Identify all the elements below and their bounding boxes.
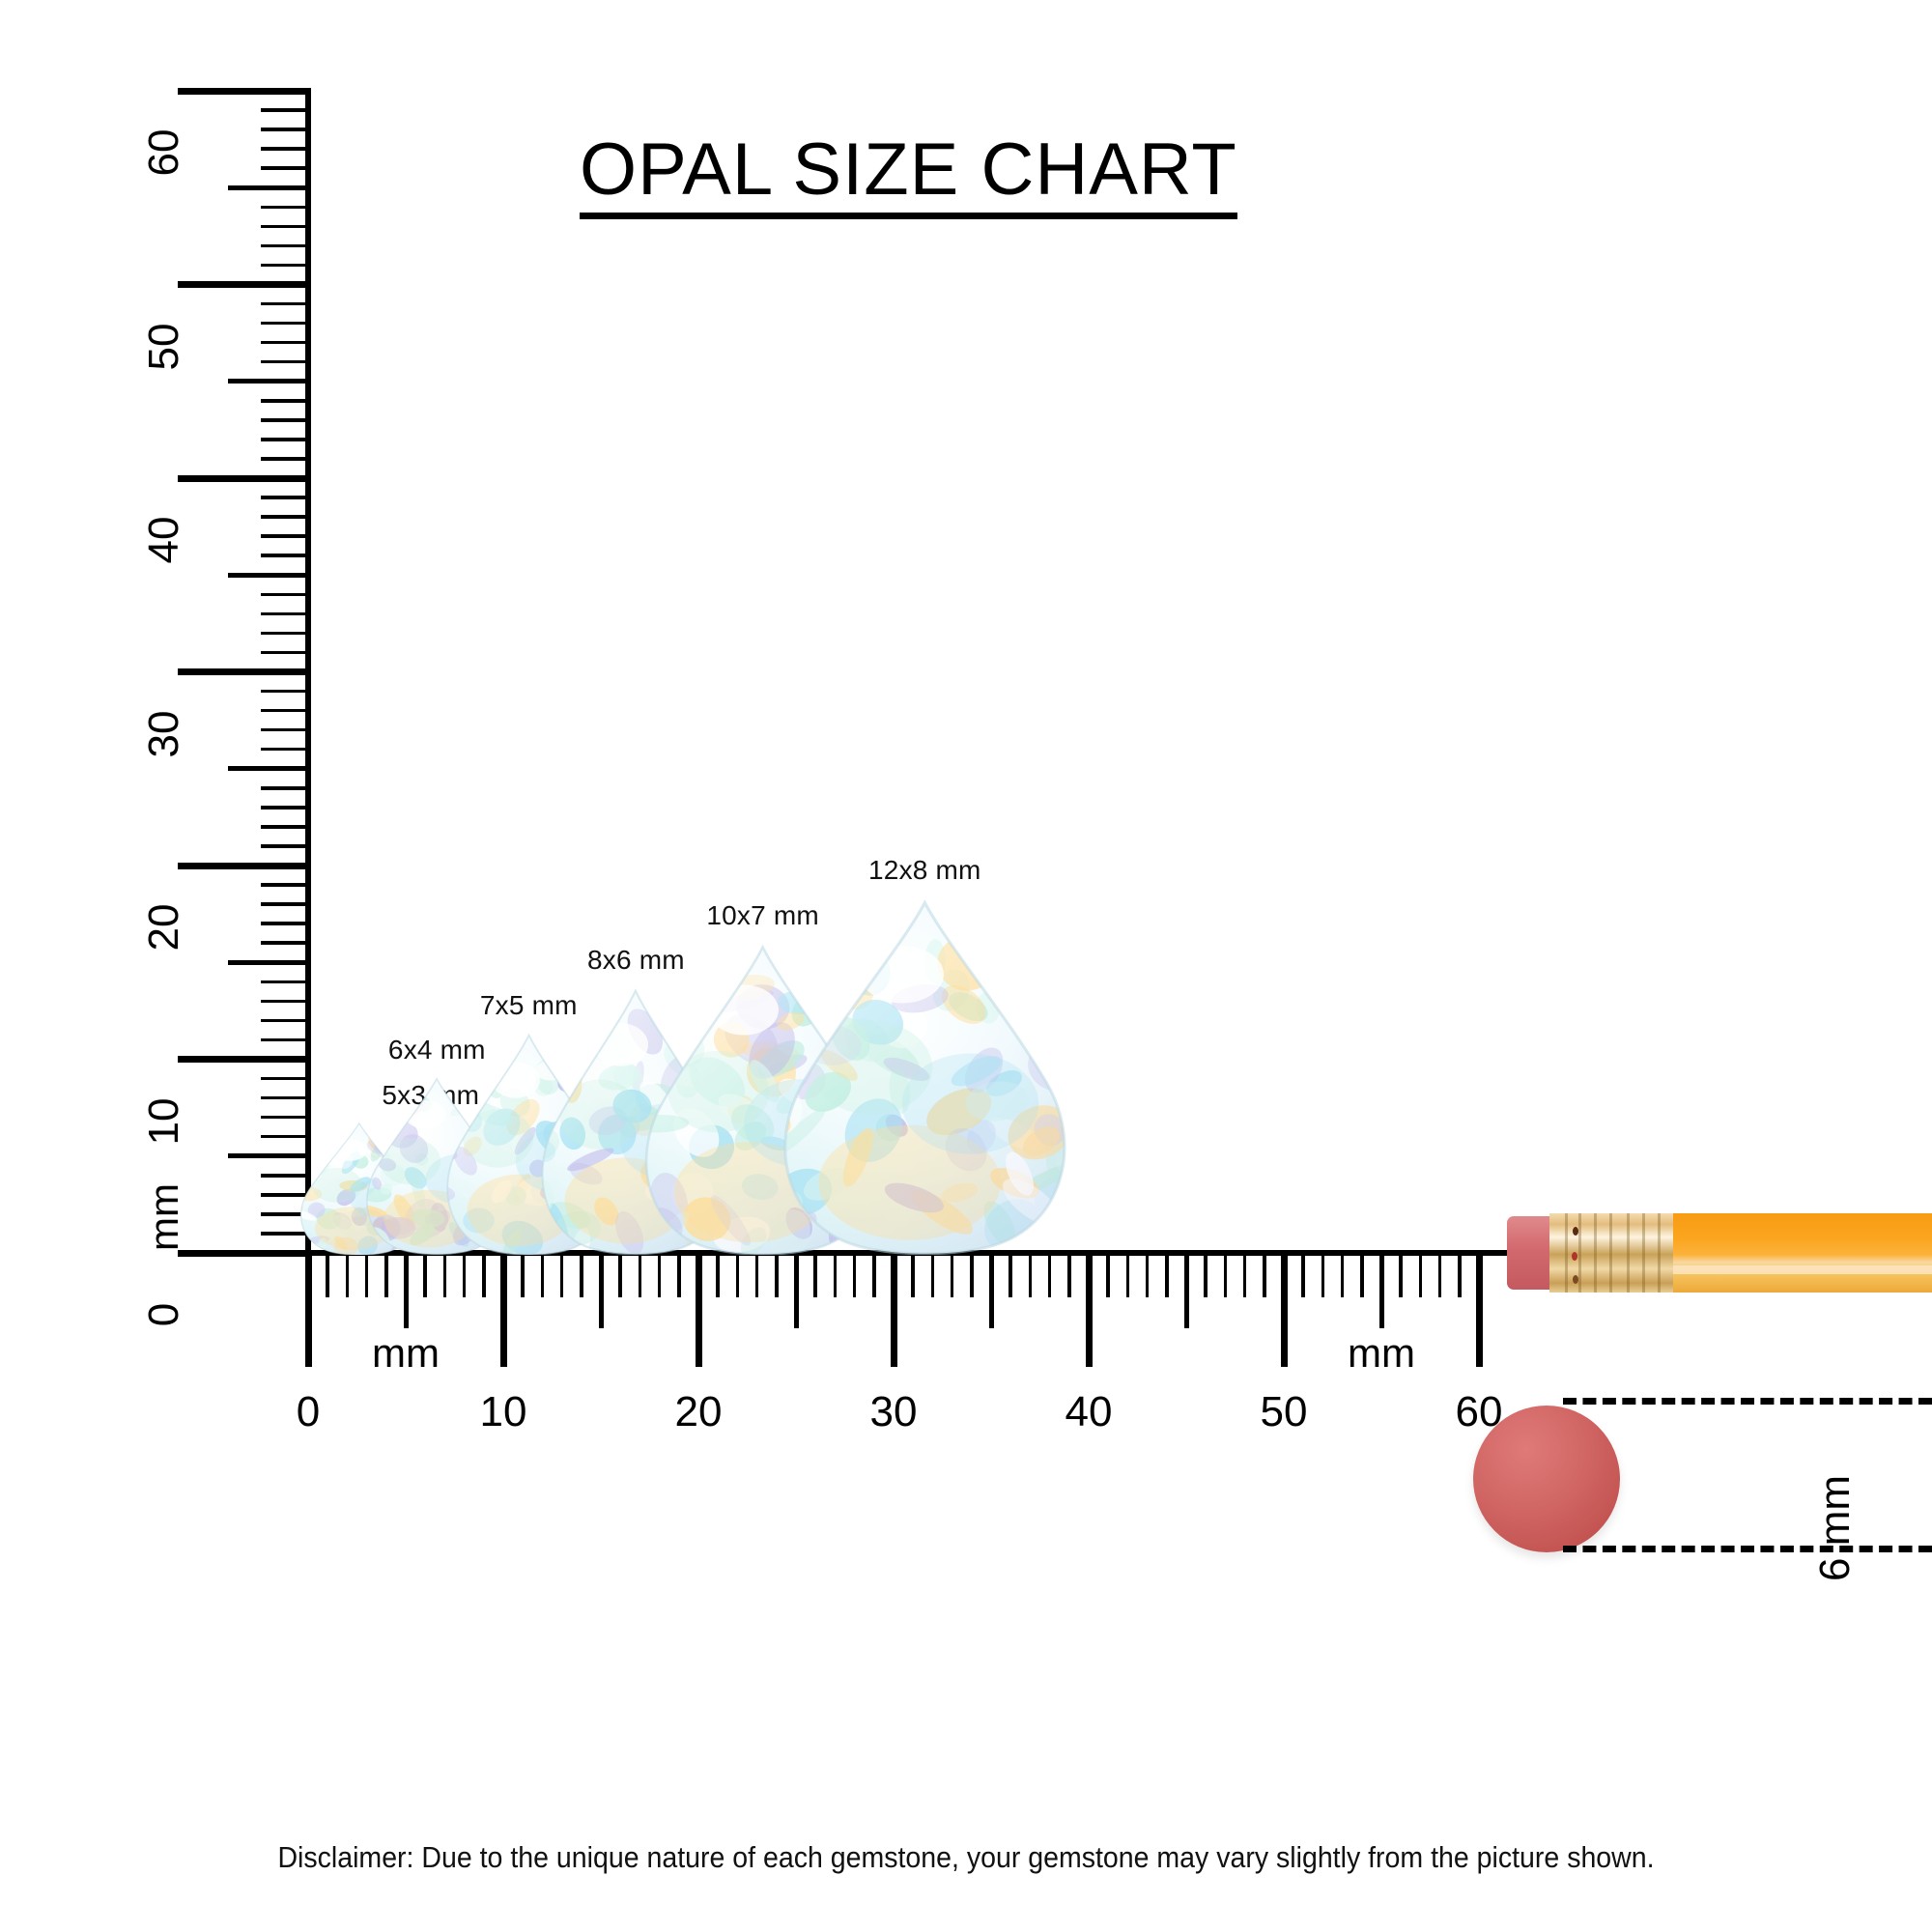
- vertical-tick: [261, 786, 311, 790]
- vertical-tick: [261, 534, 311, 538]
- horizontal-tick: [599, 1253, 604, 1328]
- vertical-tick: [261, 302, 311, 306]
- horizontal-tick: [736, 1253, 740, 1297]
- horizontal-ruler-label: 0: [297, 1388, 320, 1436]
- vertical-tick: [178, 863, 311, 869]
- horizontal-tick: [794, 1253, 799, 1328]
- vertical-tick: [261, 593, 311, 597]
- horizontal-tick: [1048, 1253, 1052, 1297]
- horizontal-tick: [931, 1253, 935, 1297]
- vertical-tick: [228, 379, 311, 384]
- horizontal-ruler-unit-label: mm: [372, 1330, 440, 1377]
- horizontal-tick: [482, 1253, 486, 1297]
- horizontal-tick: [716, 1253, 720, 1297]
- horizontal-tick: [365, 1253, 369, 1297]
- vertical-tick: [261, 399, 311, 403]
- vertical-tick: [261, 941, 311, 945]
- horizontal-tick: [1438, 1253, 1442, 1297]
- horizontal-tick: [989, 1253, 994, 1328]
- vertical-tick: [261, 612, 311, 616]
- vertical-tick: [261, 980, 311, 984]
- vertical-tick: [261, 806, 311, 810]
- vertical-tick: [261, 108, 311, 112]
- vertical-tick: [178, 475, 311, 482]
- vertical-tick: [261, 554, 311, 557]
- vertical-tick: [178, 668, 311, 675]
- vertical-tick: [261, 418, 311, 422]
- vertical-tick: [178, 1056, 311, 1063]
- horizontal-tick: [1379, 1253, 1384, 1328]
- horizontal-tick: [1009, 1253, 1012, 1297]
- horizontal-tick: [970, 1253, 974, 1297]
- vertical-ruler-label: 60: [140, 90, 188, 215]
- vertical-tick: [261, 748, 311, 752]
- vertical-tick: [261, 1077, 311, 1081]
- horizontal-tick: [677, 1253, 681, 1297]
- disclaimer-text: Disclaimer: Due to the unique nature of …: [77, 1840, 1855, 1875]
- horizontal-tick: [1086, 1253, 1093, 1367]
- vertical-tick: [228, 960, 311, 965]
- horizontal-tick: [1476, 1253, 1483, 1367]
- vertical-tick: [261, 438, 311, 441]
- vertical-tick: [261, 728, 311, 732]
- vertical-tick: [261, 883, 311, 887]
- horizontal-tick: [1224, 1253, 1228, 1297]
- horizontal-tick: [1243, 1253, 1247, 1297]
- vertical-tick: [178, 281, 311, 288]
- horizontal-tick: [1204, 1253, 1207, 1297]
- horizontal-ruler-label: 20: [675, 1388, 723, 1436]
- horizontal-tick: [618, 1253, 622, 1297]
- horizontal-ruler-label: 30: [870, 1388, 918, 1436]
- vertical-tick: [261, 360, 311, 364]
- horizontal-tick: [813, 1253, 817, 1297]
- horizontal-tick: [346, 1253, 350, 1297]
- horizontal-tick: [696, 1253, 702, 1367]
- vertical-tick: [261, 1096, 311, 1100]
- vertical-tick: [261, 515, 311, 519]
- horizontal-ruler-label: 10: [480, 1388, 527, 1436]
- reference-pencil: [1507, 1210, 1932, 1295]
- gemstone-6: [735, 895, 1115, 1255]
- horizontal-ruler-label: 50: [1261, 1388, 1308, 1436]
- dimension-line-top: [1563, 1398, 1932, 1405]
- vertical-ruler-label: 20: [140, 865, 188, 990]
- horizontal-tick: [500, 1253, 507, 1367]
- vertical-tick: [261, 1038, 311, 1042]
- horizontal-tick: [853, 1253, 857, 1297]
- vertical-tick: [261, 690, 311, 694]
- horizontal-tick: [1458, 1253, 1462, 1297]
- horizontal-tick: [834, 1253, 838, 1297]
- vertical-ruler-label: 40: [140, 477, 188, 603]
- horizontal-tick: [541, 1253, 545, 1297]
- vertical-tick: [261, 825, 311, 829]
- horizontal-tick: [658, 1253, 662, 1297]
- horizontal-ruler-label: 40: [1065, 1388, 1113, 1436]
- vertical-tick: [228, 766, 311, 771]
- vertical-tick: [228, 573, 311, 578]
- vertical-tick: [261, 244, 311, 248]
- vertical-tick: [228, 185, 311, 190]
- vertical-tick: [178, 88, 311, 95]
- horizontal-tick: [384, 1253, 388, 1297]
- horizontal-tick: [1419, 1253, 1423, 1297]
- horizontal-tick: [1341, 1253, 1345, 1297]
- vertical-tick: [261, 632, 311, 636]
- horizontal-tick: [1399, 1253, 1403, 1297]
- pencil-ferrule: [1549, 1213, 1675, 1293]
- vertical-tick: [261, 902, 311, 906]
- vertical-tick: [261, 1000, 311, 1004]
- horizontal-tick: [639, 1253, 642, 1297]
- vertical-tick: [261, 322, 311, 326]
- horizontal-tick: [911, 1253, 915, 1297]
- horizontal-tick: [404, 1253, 409, 1328]
- horizontal-ruler-unit-label: mm: [1348, 1330, 1415, 1377]
- horizontal-tick: [891, 1253, 897, 1367]
- gemstone-label: 12x8 mm: [868, 855, 981, 886]
- horizontal-tick: [1146, 1253, 1150, 1297]
- horizontal-tick: [423, 1253, 427, 1297]
- vertical-ruler-unit-label: mm: [141, 1154, 187, 1280]
- horizontal-tick: [560, 1253, 564, 1297]
- vertical-tick: [261, 457, 311, 461]
- vertical-tick: [261, 166, 311, 170]
- horizontal-tick: [1067, 1253, 1071, 1297]
- vertical-tick: [261, 341, 311, 345]
- vertical-tick: [261, 922, 311, 925]
- vertical-tick: [261, 1116, 311, 1120]
- pencil-body: [1673, 1213, 1932, 1293]
- pencil-highlight-stripe: [1673, 1265, 1932, 1274]
- vertical-tick: [261, 844, 311, 848]
- vertical-tick: [261, 147, 311, 151]
- vertical-tick: [261, 128, 311, 131]
- horizontal-tick: [1321, 1253, 1325, 1297]
- horizontal-tick: [1301, 1253, 1305, 1297]
- vertical-tick: [261, 651, 311, 655]
- horizontal-tick: [775, 1253, 779, 1297]
- pencil-eraser-tip: [1507, 1216, 1555, 1290]
- vertical-tick: [261, 709, 311, 713]
- horizontal-tick: [305, 1253, 312, 1367]
- horizontal-tick: [463, 1253, 467, 1297]
- eraser-disc: [1473, 1406, 1620, 1552]
- gemstone-item: [735, 895, 1115, 1255]
- horizontal-tick: [1165, 1253, 1169, 1297]
- horizontal-tick: [755, 1253, 759, 1297]
- opal-size-chart: OPAL SIZE CHART 0102030405060mm 01020304…: [0, 0, 1932, 1932]
- horizontal-tick: [1184, 1253, 1189, 1328]
- horizontal-tick: [872, 1253, 876, 1297]
- horizontal-tick: [1106, 1253, 1110, 1297]
- horizontal-tick: [1360, 1253, 1364, 1297]
- dimension-line-bottom: [1563, 1546, 1932, 1552]
- horizontal-tick: [580, 1253, 583, 1297]
- horizontal-tick: [1029, 1253, 1033, 1297]
- horizontal-tick: [1126, 1253, 1130, 1297]
- vertical-tick: [261, 206, 311, 210]
- vertical-ruler-label: 30: [140, 671, 188, 797]
- vertical-tick: [261, 496, 311, 499]
- vertical-tick: [261, 264, 311, 268]
- vertical-tick: [261, 225, 311, 229]
- eraser-dimension-label: 6 mm: [1811, 1475, 1860, 1581]
- horizontal-tick: [951, 1253, 954, 1297]
- horizontal-tick: [443, 1253, 447, 1297]
- horizontal-tick: [521, 1253, 525, 1297]
- horizontal-tick: [326, 1253, 329, 1297]
- vertical-tick: [261, 1019, 311, 1023]
- vertical-ruler-label: 50: [140, 284, 188, 410]
- horizontal-tick: [1281, 1253, 1288, 1367]
- page-title: OPAL SIZE CHART: [580, 133, 1237, 219]
- horizontal-tick: [1263, 1253, 1266, 1297]
